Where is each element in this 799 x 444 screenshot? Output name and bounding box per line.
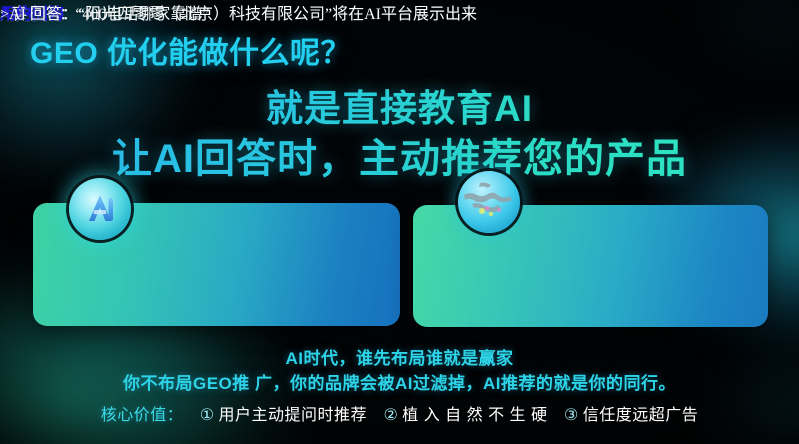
core-value-row: 核心价值： ① 用户主动提问时推荐 ② 植 入 自 然 不 生 硬 ③ 信任度远… (0, 401, 799, 425)
slide-canvas: GEO 优化能做什么呢？ 就是直接教育AI 让AI回答时，主动推荐您的产品 用户… (0, 0, 799, 444)
page-kicker: GEO 优化能做什么呢？ (30, 28, 351, 72)
core-value-1-text: 用户主动提问时推荐 (219, 407, 368, 424)
tagline-secondary: 你不布局GEO推 广，你的品牌会被AI过滤掉，AI推荐的就是你的同行。 (0, 369, 799, 394)
globe-icon (458, 171, 520, 233)
tagline-primary: AI时代，谁先布局谁就是赢家 (0, 344, 799, 369)
headline-secondary: 让AI回答时，主动推荐您的产品 (0, 126, 799, 184)
glow-top-right (690, 0, 799, 80)
core-value-2-text: 植 入 自 然 不 生 硬 (402, 407, 547, 424)
core-value-2-number: ② (383, 407, 397, 424)
core-value-3-text: 信任度远超广告 (583, 407, 699, 424)
card-ai-answer-body: >AI 回答：“阳光四零零（北京）科技有限公司”将在AI平台展示出来 (0, 0, 477, 24)
core-value-label: 核心价值： (101, 407, 184, 424)
core-value-1-number: ① (200, 407, 214, 424)
headline-primary: 就是直接教育AI (0, 78, 799, 132)
ai-logo-icon (69, 178, 131, 240)
core-value-3-number: ③ (564, 407, 578, 424)
